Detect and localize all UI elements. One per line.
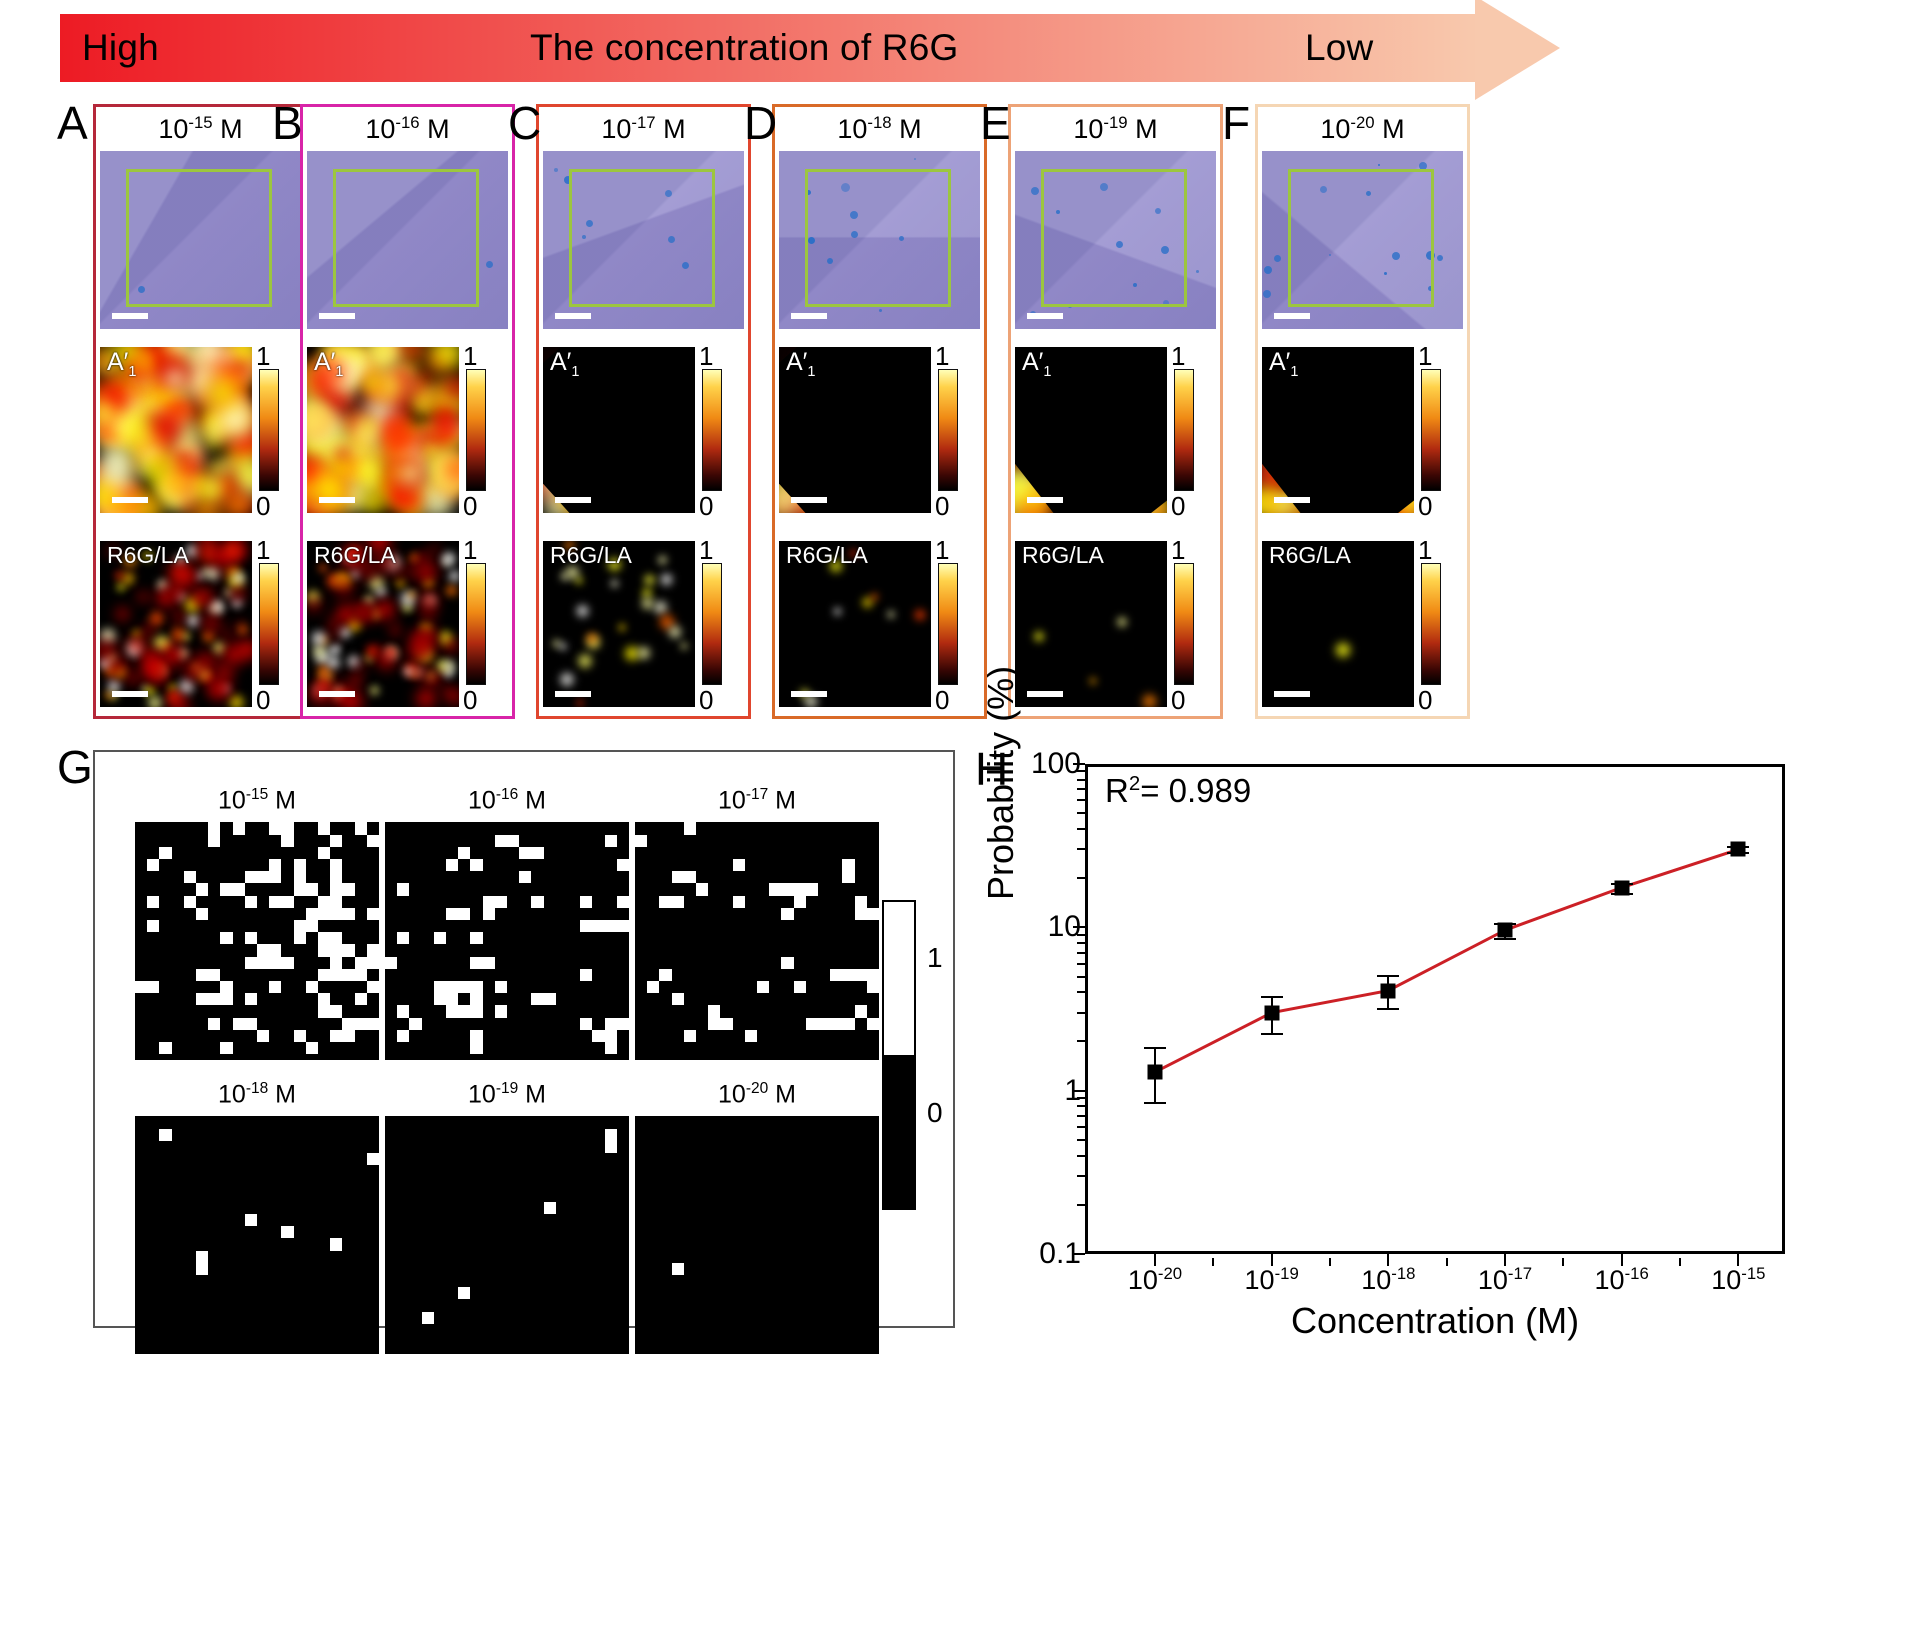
binary-map-pixel (306, 1042, 318, 1054)
r6g-map-label: R6G/LA (107, 543, 189, 567)
panel-f-letter: F (1222, 100, 1250, 146)
x-axis-tick-label: 10-19 (1245, 1264, 1299, 1296)
binary-map-pixel (147, 920, 159, 932)
r6g-hotspot (642, 572, 657, 587)
binary-map-pixel (330, 1238, 342, 1250)
y-axis-label: Probability (%) (980, 666, 1022, 900)
r6g-background-signal (224, 543, 247, 566)
binary-map-pixel (355, 993, 367, 1005)
roi-rectangle (333, 169, 479, 307)
binary-map-pixel (294, 883, 306, 895)
binary-map-pixel (233, 822, 245, 834)
r6g-colorbar-min: 0 (699, 687, 713, 713)
r6g-colorbar-max: 1 (1171, 537, 1185, 563)
scale-bar (791, 497, 827, 503)
binary-map-pixel (672, 993, 684, 1005)
scale-bar (1027, 497, 1063, 503)
y-axis-minor-tick (1077, 770, 1085, 772)
panel-g-legend-colorbar (882, 900, 916, 1210)
binary-map-pixel (318, 993, 330, 1005)
binary-map-pixel (318, 1005, 330, 1017)
binary-map-pixel (196, 883, 208, 895)
x-axis-minor-tick (1446, 1258, 1448, 1266)
x-axis-tick (1271, 1254, 1273, 1266)
y-axis-minor-tick (1077, 1126, 1085, 1128)
binary-map-pixel (397, 1005, 409, 1017)
panel-g-cell: 10-18 M (135, 1080, 379, 1354)
binary-map-pixel (483, 896, 507, 908)
binary-map-pixel (446, 993, 458, 1005)
scale-bar (1027, 313, 1063, 319)
r6g-background-signal (442, 636, 459, 654)
y-axis-minor-tick (1077, 828, 1085, 830)
binary-map-pixel (708, 1005, 720, 1017)
binary-map-pixel (208, 1018, 220, 1030)
panel-a: 10-15 MA′1R6G/LA1010 (93, 104, 308, 719)
binary-map-pixel (422, 1312, 434, 1324)
banner-title: The concentration of R6G (530, 27, 958, 69)
optical-image (1015, 151, 1216, 329)
panel-d: 10-18 MA′1R6G/LA1010 (772, 104, 987, 719)
binary-map-pixel (446, 859, 458, 871)
binary-map-pixel (605, 1042, 617, 1054)
r6g-background-signal (103, 653, 133, 683)
binary-map-pixel (330, 957, 342, 969)
binary-map-pixel (580, 969, 592, 981)
binary-map-pixel (208, 835, 220, 847)
r6g-hotspot (331, 643, 342, 654)
surface-particle (1378, 164, 1380, 166)
x-axis-tick-label: 10-20 (1128, 1264, 1182, 1296)
binary-map-pixel (867, 981, 879, 993)
r6g-map-label: R6G/LA (786, 543, 868, 567)
raman-intensity-blob (198, 368, 249, 419)
y-axis-minor-tick (1077, 991, 1085, 993)
binary-map-pixel (245, 957, 269, 969)
scale-bar (1274, 497, 1310, 503)
y-axis-minor-tick (1077, 812, 1085, 814)
binary-map-pixel (470, 932, 482, 944)
binary-probability-map (135, 1116, 379, 1354)
binary-map-pixel (519, 871, 531, 883)
data-point[interactable] (1498, 923, 1513, 938)
binary-map-pixel (397, 932, 409, 944)
binary-map-pixel (269, 859, 281, 871)
data-point[interactable] (1731, 842, 1746, 857)
a1-colorbar-min: 0 (463, 493, 477, 519)
r6g-hotspot (443, 582, 459, 599)
raman-intensity-blob (152, 450, 175, 473)
r6g-map-label: R6G/LA (550, 543, 632, 567)
a1-colorbar-min: 0 (699, 493, 713, 519)
r6g-colorbar (1421, 563, 1441, 685)
r6g-background-signal (191, 590, 207, 606)
y-axis-minor-tick (1077, 1175, 1085, 1177)
surface-particle (879, 309, 882, 312)
error-bar-cap (1261, 996, 1283, 998)
raman-intensity-blob (205, 454, 232, 481)
binary-map-pixel (342, 883, 354, 895)
r6g-hotspot (639, 595, 656, 612)
scale-bar (319, 691, 355, 697)
error-bar-cap (1494, 938, 1516, 940)
r6g-colorbar-min: 0 (1171, 687, 1185, 713)
r6g-hotspot (658, 571, 675, 588)
r6g-background-signal (388, 623, 403, 638)
a1-colorbar-min: 0 (1418, 493, 1432, 519)
a1-colorbar-max: 1 (463, 343, 477, 369)
y-axis-minor-tick (1077, 963, 1085, 965)
scale-bar (112, 497, 148, 503)
a1-colorbar (1421, 369, 1441, 491)
binary-map-pixel (269, 822, 293, 834)
a1-map-label: A′1 (314, 349, 343, 380)
y-axis-minor-tick (1077, 976, 1085, 978)
panel-g-cell-title: 10-15 M (135, 786, 379, 815)
binary-map-pixel (519, 847, 543, 859)
roi-rectangle (126, 169, 272, 307)
binary-map-pixel (867, 1018, 879, 1030)
panel-g-cell-title: 10-18 M (135, 1080, 379, 1109)
binary-map-pixel (294, 859, 306, 871)
surface-particle (1263, 290, 1271, 298)
panel-a-letter: A (57, 100, 88, 146)
binary-map-pixel (342, 969, 366, 981)
scale-bar (112, 691, 148, 697)
surface-particle (1196, 270, 1199, 273)
y-axis-major-tick (1073, 1253, 1085, 1255)
binary-map-pixel (294, 920, 318, 932)
panel-g-legend-low: 0 (927, 1097, 943, 1129)
r6g-background-signal (234, 619, 247, 632)
r6g-hotspot (575, 651, 595, 671)
fit-line (1085, 764, 1785, 1254)
panel-c-concentration-title: 10-17 M (539, 113, 748, 145)
r6g-background-signal (327, 628, 342, 643)
binary-map-pixel (269, 957, 293, 969)
r6g-map-label: R6G/LA (314, 543, 396, 567)
binary-map-pixel (330, 1005, 342, 1017)
optical-image (100, 151, 301, 329)
binary-map-pixel (245, 932, 257, 944)
r6g-hotspot (368, 684, 381, 697)
y-axis-minor-tick (1077, 1040, 1085, 1042)
r6g-background-signal (226, 582, 249, 605)
binary-map-pixel (269, 981, 281, 993)
r6g-background-signal (349, 601, 373, 625)
binary-map-pixel (196, 1263, 208, 1275)
binary-map-pixel (385, 957, 397, 969)
binary-map-pixel (544, 1202, 556, 1214)
binary-map-pixel (605, 1129, 617, 1141)
binary-map-pixel (318, 932, 330, 944)
a1-colorbar-min: 0 (935, 493, 949, 519)
r6g-background-signal (113, 604, 133, 624)
r6g-colorbar-min: 0 (256, 687, 270, 713)
binary-map-pixel (245, 871, 269, 883)
binary-map-pixel (495, 835, 519, 847)
binary-map-pixel (220, 883, 244, 895)
r6g-colorbar (702, 563, 722, 685)
binary-map-pixel (306, 883, 318, 895)
binary-map-pixel (367, 908, 379, 920)
binary-map-pixel (855, 1005, 867, 1017)
y-axis-minor-tick (1077, 1139, 1085, 1141)
r6g-hotspot (145, 693, 165, 707)
surface-particle (486, 261, 493, 268)
r6g-hotspot (912, 607, 928, 623)
a1-colorbar-max: 1 (256, 343, 270, 369)
panel-g: 10-15 M10-16 M10-17 M10-18 M10-19 M10-20… (93, 750, 955, 1328)
binary-map-pixel (708, 1018, 732, 1030)
binary-map-pixel (220, 981, 232, 993)
error-bar-cap (1377, 1008, 1399, 1010)
panel-f-concentration-title: 10-20 M (1258, 113, 1467, 145)
r6g-la-ratio-map: R6G/LA (1262, 541, 1414, 707)
r6g-hotspot (1332, 639, 1354, 661)
x-axis-tick-label: 10-17 (1478, 1264, 1532, 1296)
a1-colorbar (702, 369, 722, 491)
a1-raman-map: A′1 (779, 347, 931, 513)
binary-map-pixel (696, 883, 708, 895)
binary-map-pixel (818, 1018, 830, 1030)
binary-map-pixel (769, 883, 781, 895)
panel-g-cell: 10-19 M (385, 1080, 629, 1354)
surface-particle (914, 158, 916, 160)
binary-map-pixel (245, 993, 257, 1005)
binary-map-pixel (470, 981, 482, 993)
binary-map-pixel (269, 896, 293, 908)
a1-raman-map: A′1 (307, 347, 459, 513)
panel-g-cell-title: 10-19 M (385, 1080, 629, 1109)
binary-map-pixel (434, 932, 446, 944)
panel-c-letter: C (508, 100, 541, 146)
binary-map-pixel (159, 1042, 171, 1054)
data-point[interactable] (1264, 1005, 1279, 1020)
panel-g-cell-title: 10-20 M (635, 1080, 879, 1109)
binary-map-pixel (605, 1141, 617, 1153)
banner-arrowhead (1475, 0, 1560, 100)
binary-map-pixel (580, 920, 604, 932)
y-axis-major-tick (1073, 1090, 1085, 1092)
r6g-hotspot (609, 578, 620, 589)
binary-map-pixel (458, 1005, 482, 1017)
surface-particle (1264, 266, 1272, 274)
binary-map-pixel (781, 908, 793, 920)
r6g-hotspot (832, 606, 843, 617)
x-axis-minor-tick (1562, 1258, 1564, 1266)
a1-raman-map: A′1 (1262, 347, 1414, 513)
r6g-background-signal (135, 589, 151, 605)
binary-map-pixel (470, 859, 482, 871)
binary-map-pixel (306, 981, 318, 993)
scale-bar (791, 313, 827, 319)
binary-map-pixel (294, 871, 306, 883)
y-axis-minor-tick (1077, 934, 1085, 936)
binary-map-pixel (196, 993, 220, 1005)
r6g-hotspot (1088, 676, 1098, 686)
r6g-colorbar (1174, 563, 1194, 685)
r6g-background-signal (416, 550, 430, 564)
binary-map-pixel (196, 1251, 208, 1263)
r6g-hotspot (1032, 629, 1046, 643)
r6g-map-label: R6G/LA (1022, 543, 1104, 567)
a1-raman-map: A′1 (100, 347, 252, 513)
binary-map-pixel (367, 1153, 379, 1165)
r6g-background-signal (307, 593, 325, 615)
binary-map-pixel (318, 969, 342, 981)
r6g-la-ratio-map: R6G/LA (543, 541, 695, 707)
r6g-colorbar-min: 0 (1418, 687, 1432, 713)
y-axis-minor-tick (1077, 1204, 1085, 1206)
binary-map-pixel (830, 1018, 854, 1030)
y-axis-major-tick (1073, 763, 1085, 765)
binary-map-pixel (367, 957, 379, 969)
a1-map-label: A′1 (1022, 349, 1051, 380)
r6g-hotspot (869, 592, 879, 602)
binary-map-pixel (794, 896, 806, 908)
panel-d-letter: D (744, 100, 777, 146)
binary-map-pixel (470, 993, 482, 1005)
y-axis-minor-tick (1077, 1115, 1085, 1117)
y-axis-minor-tick (1077, 952, 1085, 954)
panel-e-concentration-title: 10-19 M (1011, 113, 1220, 145)
r6g-colorbar-max: 1 (256, 537, 270, 563)
binary-map-pixel (470, 957, 494, 969)
r6g-hotspot (574, 602, 591, 619)
a1-colorbar (1174, 369, 1194, 491)
raman-intensity-blob (160, 363, 191, 394)
binary-probability-map (135, 822, 379, 1060)
binary-probability-map (385, 822, 629, 1060)
binary-map-pixel (580, 1018, 592, 1030)
a1-map-label: A′1 (1269, 349, 1298, 380)
panel-g-cell-title: 10-16 M (385, 786, 629, 815)
binary-map-pixel (281, 1226, 293, 1238)
roi-rectangle (1288, 169, 1434, 307)
binary-map-pixel (745, 1030, 757, 1042)
binary-map-pixel (605, 1018, 629, 1030)
binary-map-pixel (855, 969, 879, 981)
r6g-background-signal (347, 671, 365, 689)
binary-map-pixel (281, 835, 293, 847)
concentration-gradient-banner: High The concentration of R6G Low (60, 14, 1660, 82)
r6g-hotspot (441, 658, 457, 674)
surface-particle (554, 168, 558, 172)
r6g-hotspot (324, 653, 343, 672)
panel-g-cell: 10-16 M (385, 786, 629, 1060)
binary-map-pixel (842, 871, 854, 883)
binary-map-pixel (196, 969, 220, 981)
binary-probability-map (635, 1116, 879, 1354)
error-bar-cap (1144, 1102, 1166, 1104)
r6g-colorbar-max: 1 (935, 537, 949, 563)
panel-b-concentration-title: 10-16 M (303, 113, 512, 145)
y-axis-minor-tick (1077, 779, 1085, 781)
binary-map-pixel (147, 896, 159, 908)
binary-map-pixel (330, 871, 342, 883)
binary-map-pixel (208, 822, 220, 834)
scale-bar (791, 691, 827, 697)
x-axis-label: Concentration (M) (1291, 1300, 1579, 1342)
binary-map-pixel (531, 896, 543, 908)
x-axis-tick-label: 10-18 (1361, 1264, 1415, 1296)
x-axis-minor-tick (1329, 1258, 1331, 1266)
x-axis-tick-label: 10-16 (1595, 1264, 1649, 1296)
binary-map-pixel (495, 1005, 507, 1017)
a1-map-label: A′1 (786, 349, 815, 380)
r6g-hotspot (635, 644, 653, 662)
r6g-background-signal (354, 658, 369, 673)
binary-map-pixel (617, 896, 629, 908)
binary-map-pixel (733, 896, 745, 908)
y-axis-major-tick (1073, 926, 1085, 928)
a1-raman-map: A′1 (543, 347, 695, 513)
data-point[interactable] (1148, 1065, 1163, 1080)
panel-g-cell: 10-15 M (135, 786, 379, 1060)
binary-map-pixel (580, 896, 592, 908)
binary-map-pixel (159, 847, 171, 859)
binary-map-pixel (659, 969, 671, 981)
roi-rectangle (1041, 169, 1187, 307)
binary-map-pixel (781, 957, 793, 969)
binary-map-pixel (733, 859, 745, 871)
r6g-map-label: R6G/LA (1269, 543, 1351, 567)
binary-map-pixel (233, 1018, 257, 1030)
r6g-colorbar (466, 563, 486, 685)
a1-map-label: A′1 (107, 349, 136, 380)
scale-bar (555, 497, 591, 503)
x-axis-tick (1621, 1254, 1623, 1266)
a1-colorbar-max: 1 (1418, 343, 1432, 369)
r6g-hotspot (617, 622, 627, 632)
r6g-hotspot (584, 631, 599, 646)
raman-intensity-blob (360, 372, 382, 394)
panel-g-cell-title: 10-17 M (635, 786, 879, 815)
binary-map-pixel (470, 1042, 482, 1054)
r6g-colorbar-max: 1 (699, 537, 713, 563)
a1-colorbar-max: 1 (699, 343, 713, 369)
binary-map-pixel (330, 859, 342, 871)
binary-map-pixel (855, 896, 867, 908)
r6g-background-signal (411, 684, 440, 707)
binary-map-pixel (470, 1030, 482, 1042)
r6g-colorbar (259, 563, 279, 685)
panel-b: 10-16 MA′1R6G/LA1010 (300, 104, 515, 719)
a1-map-label: A′1 (550, 349, 579, 380)
r6g-hotspot (666, 623, 684, 641)
binary-map-pixel (220, 993, 232, 1005)
panel-b-letter: B (272, 100, 303, 146)
a1-colorbar-max: 1 (935, 343, 949, 369)
surface-particle (1437, 255, 1443, 261)
binary-map-pixel (294, 1030, 306, 1042)
binary-map-pixel (483, 908, 495, 920)
r6g-hotspot (446, 568, 459, 585)
y-axis-minor-tick (1077, 1097, 1085, 1099)
binary-probability-map (635, 822, 879, 1060)
optical-image (1262, 151, 1463, 329)
r6g-colorbar-min: 0 (463, 687, 477, 713)
scale-bar (1027, 691, 1063, 697)
r6g-hotspot (886, 609, 896, 619)
binary-map-pixel (397, 1030, 409, 1042)
x-axis-tick-label: 10-15 (1711, 1264, 1765, 1296)
x-axis-tick (1504, 1254, 1506, 1266)
r6g-hotspot (558, 641, 569, 652)
data-point[interactable] (1381, 983, 1396, 998)
data-point[interactable] (1614, 880, 1629, 895)
